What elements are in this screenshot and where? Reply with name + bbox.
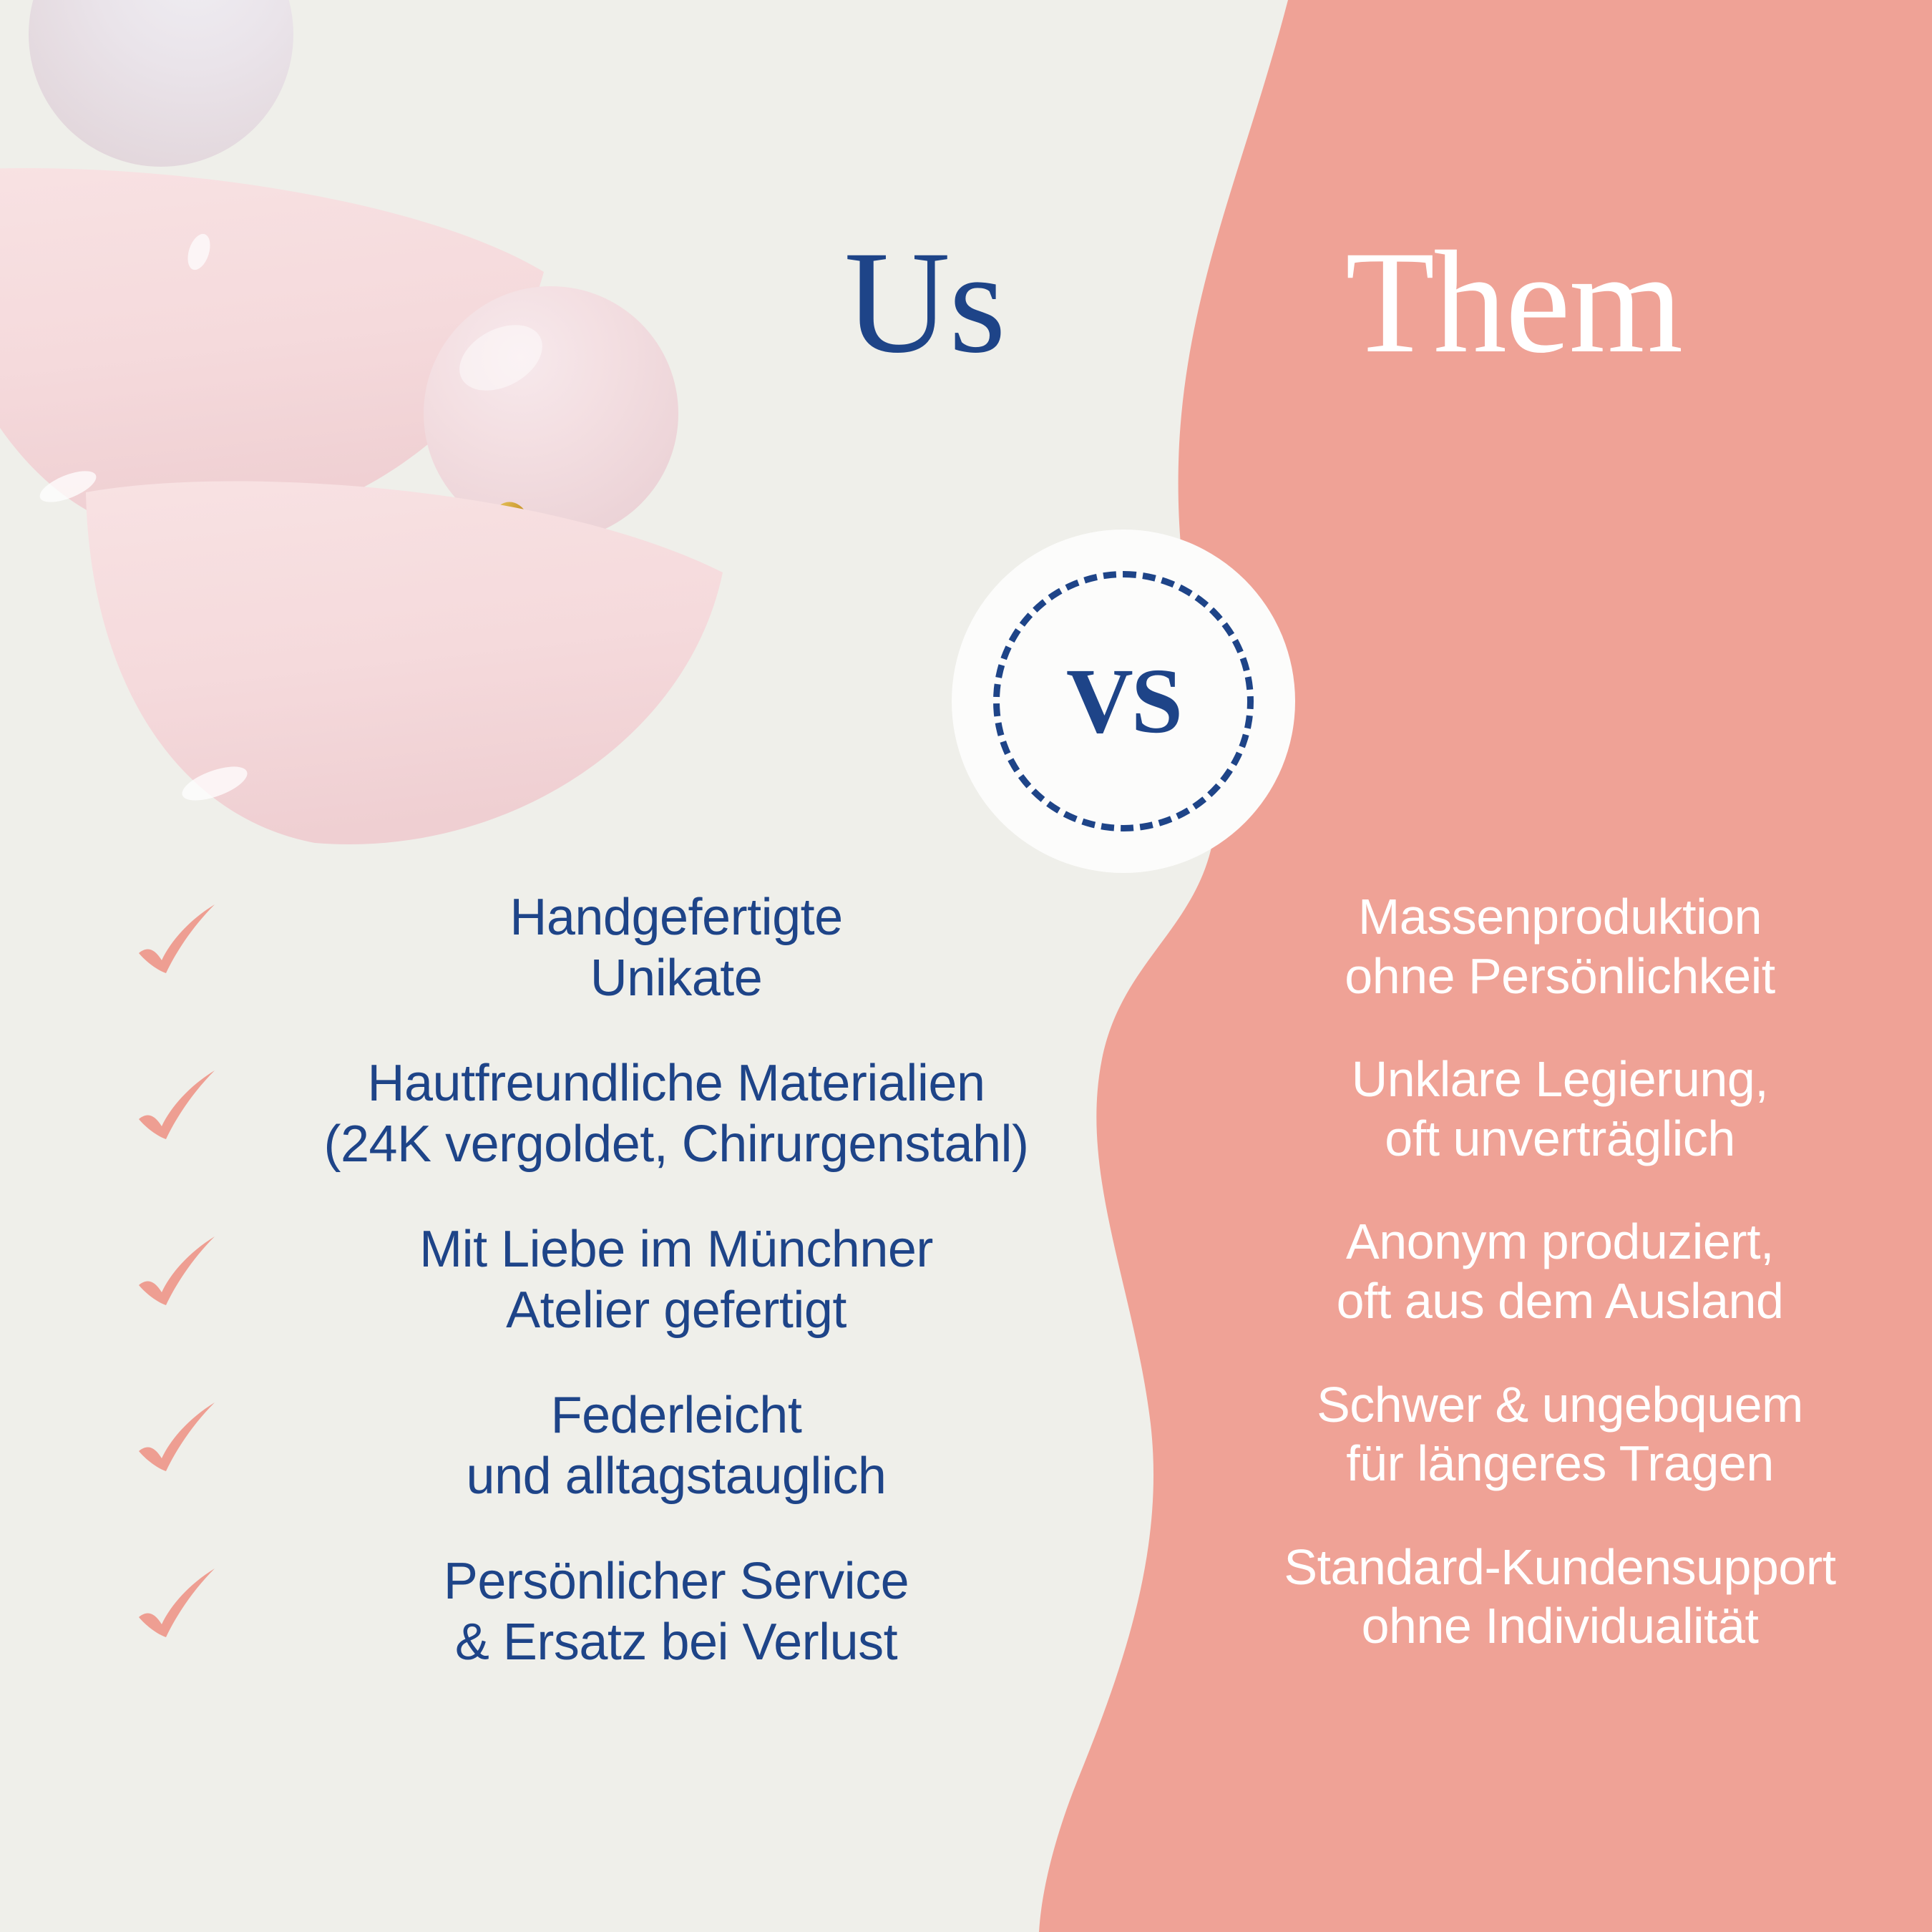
list-item: Federleicht und alltagstauglich (129, 1385, 1116, 1507)
list-item: Anonym produziert, oft aus dem Ausland (1216, 1212, 1903, 1330)
list-item-line2: Unikate (236, 948, 1116, 1009)
check-icon (129, 902, 222, 995)
list-item-text: Mit Liebe im Münchner Atelier gefertigt (129, 1219, 1116, 1341)
list-item-line2: oft aus dem Ausland (1216, 1272, 1903, 1331)
list-item-text: Unklare Legierung, oft unverträglich (1216, 1050, 1903, 1168)
list-item-text: Hautfreundliche Materialien (24K vergold… (129, 1053, 1116, 1175)
list-item-text: Persönlicher Service & Ersatz bei Verlus… (129, 1551, 1116, 1673)
list-item: Massenproduktion ohne Persönlichkeit (1216, 887, 1903, 1005)
comparison-infographic: Us Them VS Handgefertigte Unikate Hautfr… (0, 0, 1932, 1932)
list-item-line2: (24K vergoldet, Chirurgenstahl) (236, 1114, 1116, 1175)
list-item-line2: ohne Individualität (1216, 1596, 1903, 1656)
list-item: Hautfreundliche Materialien (24K vergold… (129, 1053, 1116, 1175)
heading-them: Them (1345, 229, 1682, 376)
list-item-line1: Persönlicher Service (236, 1551, 1116, 1612)
list-item-line2: & Ersatz bei Verlust (236, 1612, 1116, 1673)
us-benefits-list: Handgefertigte Unikate Hautfreundliche M… (129, 887, 1116, 1717)
list-item-text: Federleicht und alltagstauglich (129, 1385, 1116, 1507)
list-item-text: Standard-Kundensupport ohne Individualit… (1216, 1538, 1903, 1656)
list-item-line1: Handgefertigte (236, 887, 1116, 948)
list-item-line1: Anonym produziert, (1216, 1212, 1903, 1272)
list-item-line2: ohne Persönlichkeit (1216, 947, 1903, 1006)
list-item: Handgefertigte Unikate (129, 887, 1116, 1009)
list-item-text: Massenproduktion ohne Persönlichkeit (1216, 887, 1903, 1005)
list-item-line2: oft unverträglich (1216, 1109, 1903, 1169)
list-item-line1: Massenproduktion (1216, 887, 1903, 947)
list-item: Mit Liebe im Münchner Atelier gefertigt (129, 1219, 1116, 1341)
list-item: Standard-Kundensupport ohne Individualit… (1216, 1538, 1903, 1656)
list-item-line2: Atelier gefertigt (236, 1280, 1116, 1341)
list-item-text: Anonym produziert, oft aus dem Ausland (1216, 1212, 1903, 1330)
list-item-line2: und alltagstauglich (236, 1446, 1116, 1507)
check-icon (129, 1400, 222, 1493)
list-item-line2: für längeres Tragen (1216, 1434, 1903, 1493)
list-item-line1: Federleicht (236, 1385, 1116, 1446)
list-item: Persönlicher Service & Ersatz bei Verlus… (129, 1551, 1116, 1673)
list-item: Schwer & ungebquem für längeres Tragen (1216, 1375, 1903, 1493)
list-item-line1: Unklare Legierung, (1216, 1050, 1903, 1109)
check-icon (129, 1566, 222, 1659)
list-item-text: Handgefertigte Unikate (129, 887, 1116, 1009)
them-drawbacks-list: Massenproduktion ohne Persönlichkeit Unk… (1216, 887, 1903, 1700)
list-item: Unklare Legierung, oft unverträglich (1216, 1050, 1903, 1168)
list-item-line1: Standard-Kundensupport (1216, 1538, 1903, 1597)
list-item-line1: Hautfreundliche Materialien (236, 1053, 1116, 1114)
list-item-line1: Mit Liebe im Münchner (236, 1219, 1116, 1280)
check-icon (129, 1234, 222, 1327)
list-item-line1: Schwer & ungebquem (1216, 1375, 1903, 1435)
check-icon (129, 1068, 222, 1161)
heading-us: Us (844, 229, 1005, 376)
list-item-text: Schwer & ungebquem für längeres Tragen (1216, 1375, 1903, 1493)
vs-label: VS (952, 655, 1295, 748)
vs-badge: VS (952, 530, 1295, 873)
